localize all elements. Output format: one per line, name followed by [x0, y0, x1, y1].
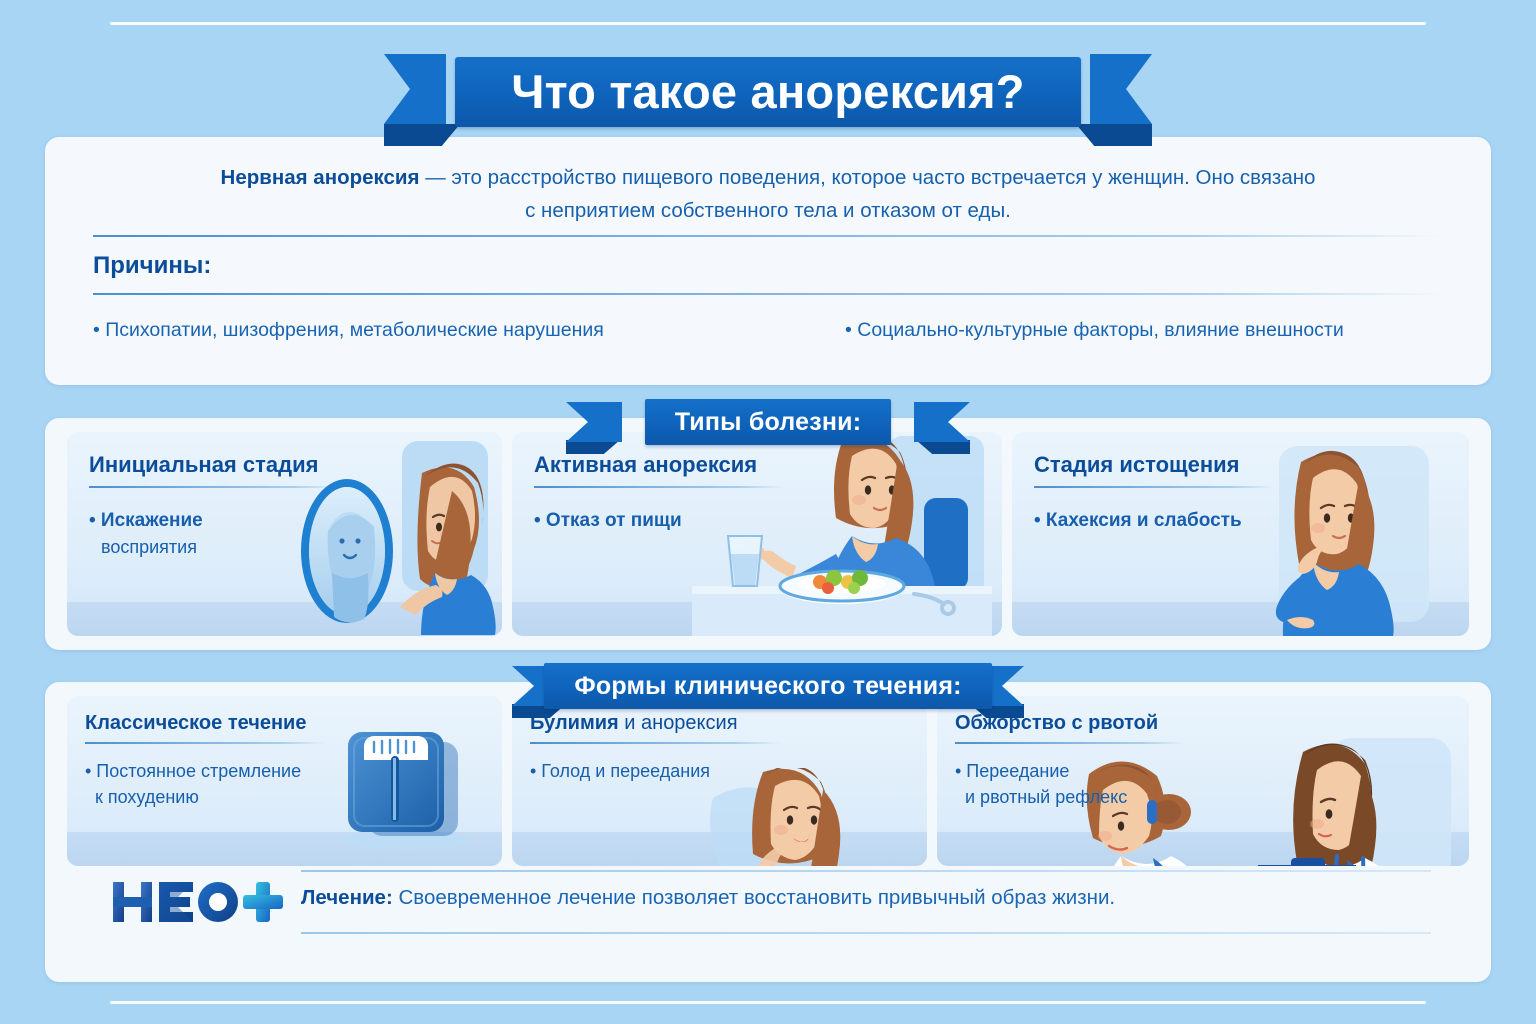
types-ribbon-wing-right — [914, 402, 970, 442]
top-rule — [110, 22, 1426, 25]
type-title-divider-0 — [89, 486, 339, 488]
intro-paragraph: Нервная анорексия — это расстройство пищ… — [93, 161, 1443, 227]
form-title-divider-0 — [85, 742, 325, 744]
form-bullet-line1-0: • Постоянное стремление — [85, 761, 301, 781]
infographic-page: Что такое анорексия? Нервная анорексия —… — [0, 0, 1536, 1024]
form-bullet-1: • Голод и переедания — [530, 758, 710, 784]
neo-plus-logo — [111, 874, 287, 930]
page-title: Что такое анорексия? — [455, 57, 1080, 127]
type-bullet-line1-2: • Кахексия и слабость — [1034, 510, 1242, 531]
form-panel-1[interactable]: Булимия и анорексия • Голод и переедания — [512, 696, 927, 866]
types-ribbon-label: Типы болезни: — [645, 399, 891, 445]
treatment-text: Лечение: Своевременное лечение позволяет… — [301, 886, 1115, 910]
intro-line2: с неприятием собственного тела и отказом… — [93, 194, 1443, 227]
types-ribbon: Типы болезни: — [0, 396, 1536, 448]
forms-ribbon-label: Формы клинического течения: — [544, 663, 991, 709]
form-bullet-line1-1: • Голод и переедания — [530, 761, 710, 781]
causes-divider — [93, 293, 1443, 295]
type-panel-1[interactable]: Активная анорексия • Отказ от пищи — [512, 432, 1002, 636]
form-panel-0[interactable]: Классическое течение • Постоянное стремл… — [67, 696, 502, 866]
intro-bold-term: Нервная анорексия — [221, 166, 420, 189]
ribbon-wing-right — [1090, 54, 1152, 124]
treatment-rule-top — [301, 870, 1431, 872]
exhausted-girl-illustration — [1209, 436, 1459, 636]
causes-heading: Причины: — [93, 252, 211, 280]
treatment-bar: Лечение: Своевременное лечение позволяет… — [105, 864, 1431, 942]
type-bullet-0: • Искажение восприятия — [89, 508, 203, 560]
treatment-body: Своевременное лечение позволяет восстано… — [393, 886, 1115, 909]
ribbon-wing-left — [384, 54, 446, 124]
form-bullet-line1-2: • Переедание — [955, 761, 1069, 781]
types-card: Инициальная стадия • Искажение восприяти… — [45, 418, 1491, 650]
type-title-divider-2 — [1034, 486, 1274, 488]
treatment-rule-bottom — [301, 932, 1431, 934]
type-title-2: Стадия истощения — [1034, 452, 1239, 478]
forms-card: Классическое течение • Постоянное стремл… — [45, 682, 1491, 982]
types-ribbon-wing-left — [566, 402, 622, 442]
bathroom-scale-illustration — [328, 722, 478, 852]
form-bullet-2: • Переедание и рвотный рефлекс — [955, 758, 1127, 810]
type-title-1: Активная анорексия — [534, 452, 757, 478]
form-bullet-line2-2: и рвотный рефлекс — [965, 784, 1127, 810]
intro-card: Нервная анорексия — это расстройство пищ… — [45, 137, 1491, 385]
form-title-divider-2 — [955, 742, 1183, 744]
type-panel-2[interactable]: Стадия истощения • Кахексия и слабость — [1012, 432, 1469, 636]
form-title-1-rest: и анорексия — [619, 712, 738, 734]
form-title-1: Булимия и анорексия — [530, 712, 738, 735]
type-title-divider-1 — [534, 486, 784, 488]
cause-item-0: • Психопатии, шизофрения, метаболические… — [93, 317, 604, 344]
cause-item-1: • Социально-культурные факторы, влияние … — [845, 317, 1344, 344]
type-panel-0[interactable]: Инициальная стадия • Искажение восприяти… — [67, 432, 502, 636]
type-bullet-2: • Кахексия и слабость — [1034, 508, 1242, 534]
form-title-0: Классическое течение — [85, 712, 306, 735]
intro-line1: — это расстройство пищевого поведения, к… — [420, 166, 1316, 189]
treatment-label: Лечение: — [301, 886, 393, 909]
type-bullet-1: • Отказ от пищи — [534, 508, 682, 534]
form-bullet-0: • Постоянное стремление к похудению — [85, 758, 301, 810]
form-bullet-line2-0: к похудению — [95, 784, 301, 810]
type-bullet-line1-1: • Отказ от пищи — [534, 510, 682, 531]
title-ribbon: Что такое анорексия? — [0, 46, 1536, 138]
type-bullet-line1-0: • Искажение — [89, 510, 203, 531]
form-panel-2[interactable]: Обжорство с рвотой • Переедание и рвотны… — [937, 696, 1469, 866]
bottom-rule — [110, 1001, 1426, 1004]
form-title-divider-1 — [530, 742, 780, 744]
intro-divider — [93, 235, 1443, 237]
type-bullet-line2-0: восприятия — [101, 534, 203, 560]
forms-ribbon: Формы клинического течения: — [0, 660, 1536, 712]
type-title-0: Инициальная стадия — [89, 452, 318, 478]
